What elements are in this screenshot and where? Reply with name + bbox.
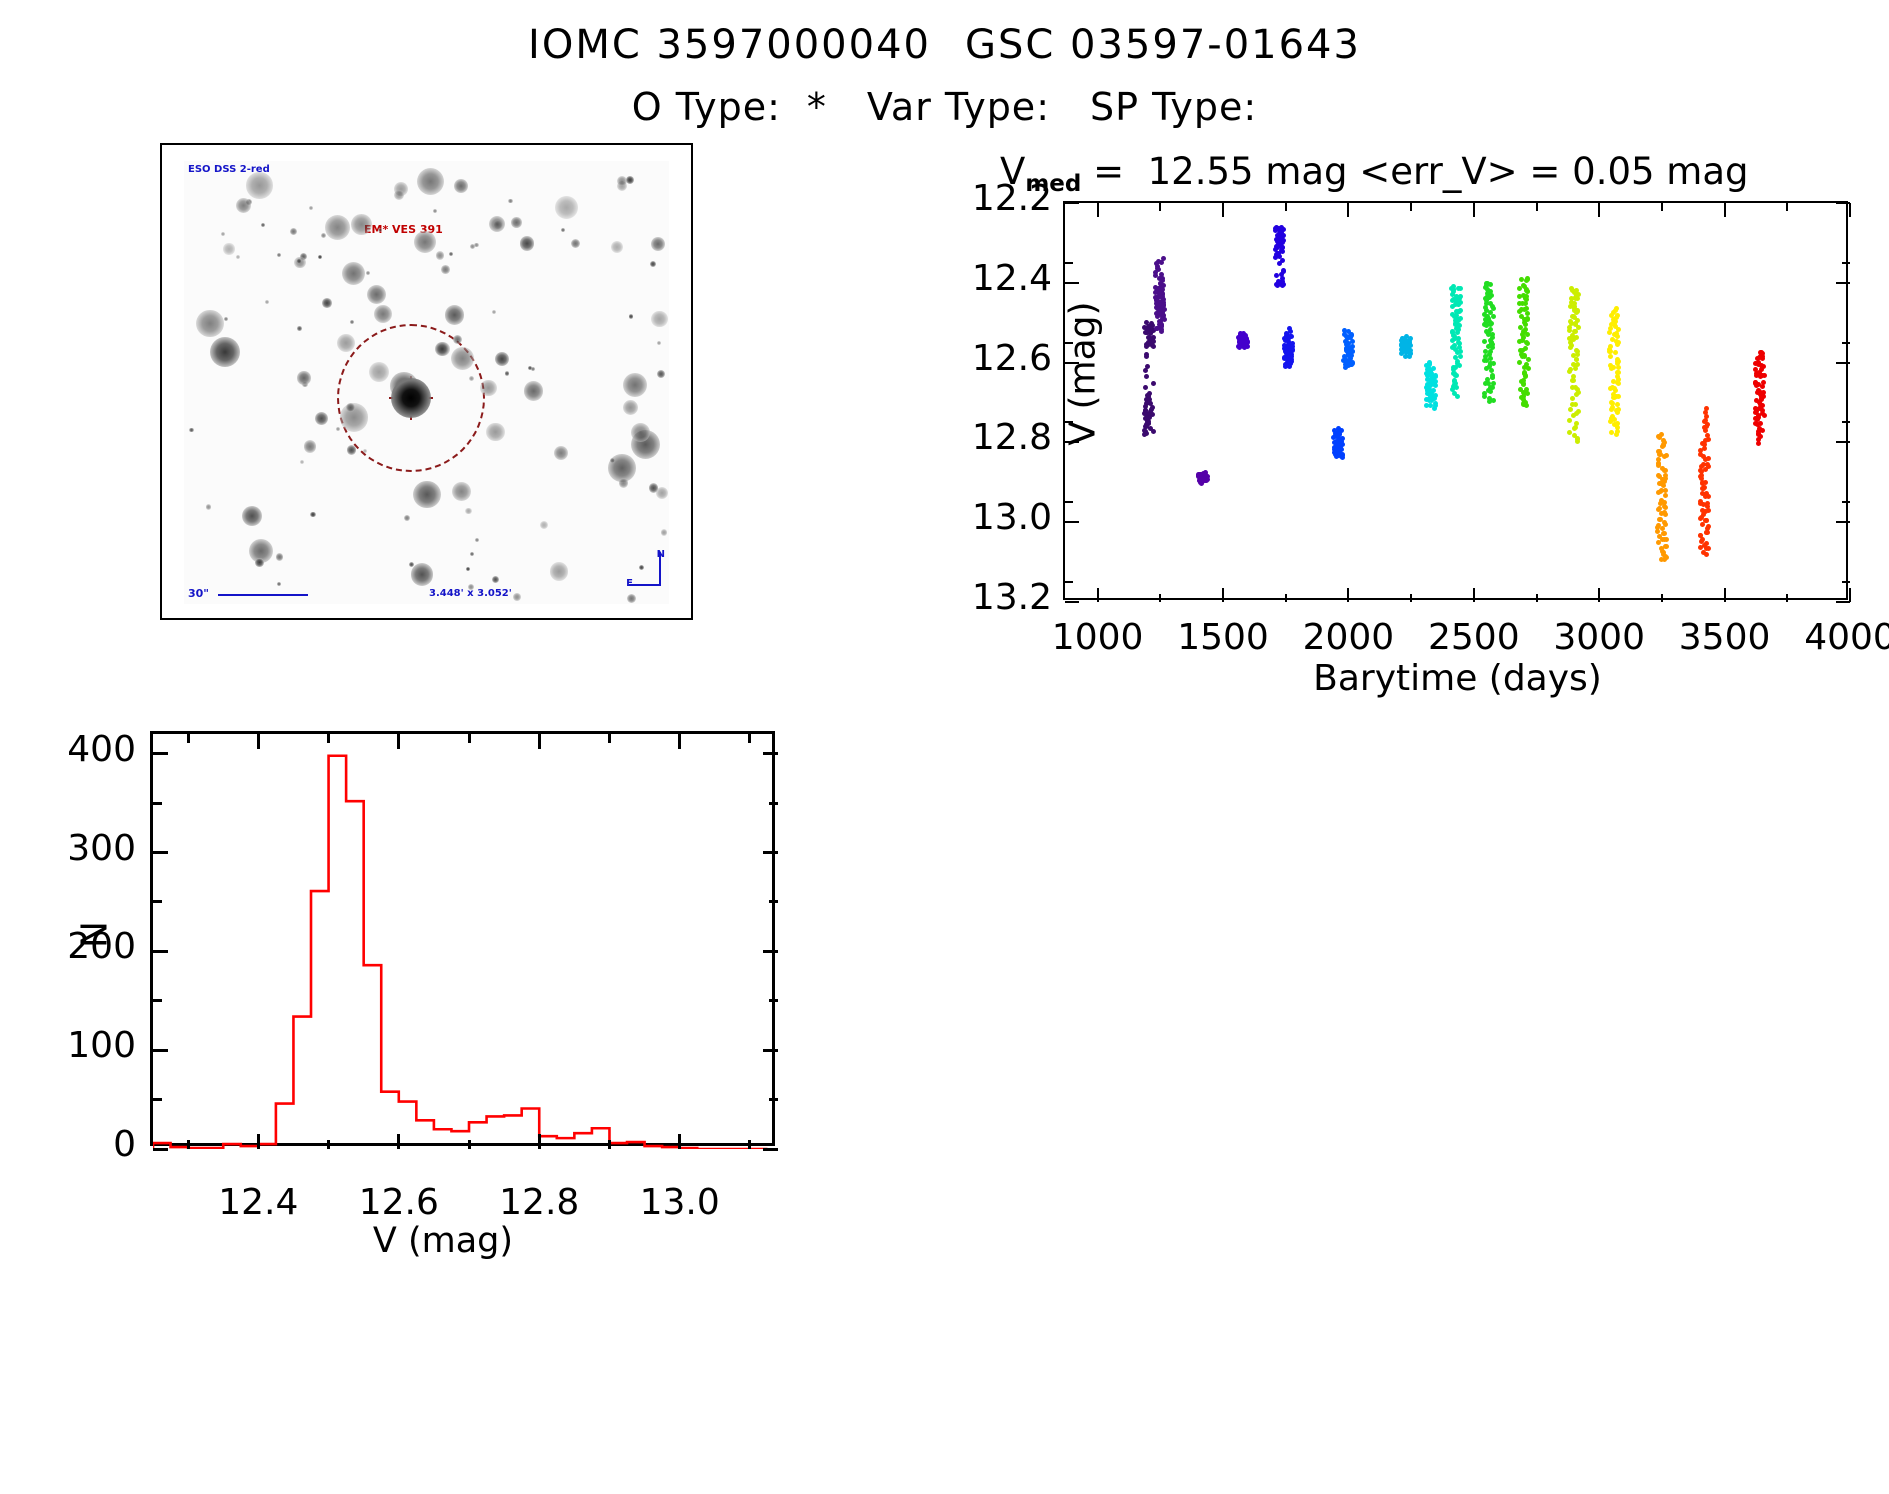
- background-star: [300, 460, 304, 464]
- background-star: [367, 285, 387, 305]
- background-star: [350, 320, 354, 324]
- lightcurve-data-point: [1663, 493, 1668, 498]
- lightcurve-x-tick: [1222, 588, 1224, 602]
- background-star: [417, 168, 445, 196]
- lightcurve-data-point: [1483, 381, 1488, 386]
- background-star: [433, 209, 437, 213]
- background-star: [524, 381, 544, 401]
- lightcurve-x-tick: [1724, 588, 1726, 602]
- background-star: [265, 300, 269, 304]
- background-star: [639, 565, 644, 570]
- lightcurve-data-point: [1576, 409, 1581, 414]
- background-star: [505, 371, 509, 375]
- background-star: [629, 314, 633, 318]
- histogram-outline: [153, 756, 767, 1149]
- lightcurve-data-point: [1517, 360, 1522, 365]
- background-star: [475, 538, 479, 542]
- lightcurve-data-point: [1451, 289, 1456, 294]
- background-star: [414, 231, 436, 253]
- lightcurve-data-point: [1144, 431, 1149, 436]
- histogram-y-minor-tick: [769, 1098, 778, 1101]
- background-star: [469, 376, 474, 381]
- lightcurve-y-minor-tick: [1842, 421, 1850, 423]
- background-star: [470, 244, 475, 249]
- lightcurve-data-point: [1143, 368, 1148, 373]
- background-star: [466, 567, 470, 571]
- gsc-id: GSC 03597-01643: [965, 22, 1361, 68]
- background-star: [651, 311, 667, 327]
- lightcurve-y-tick: [1065, 282, 1079, 284]
- background-star: [623, 373, 647, 397]
- histogram-x-minor-tick: [187, 734, 190, 743]
- background-star: [374, 305, 392, 323]
- lightcurve-x-minor-tick: [1786, 203, 1788, 211]
- background-star: [346, 403, 355, 412]
- histogram-plot: N V (mag) 010020030040012.412.612.813.0: [150, 731, 775, 1146]
- lightcurve-data-point: [1454, 373, 1459, 378]
- lightcurve-data-point: [1450, 304, 1455, 309]
- background-star: [189, 428, 193, 432]
- lightcurve-x-tick: [1347, 203, 1349, 217]
- lightcurve-x-minor-tick: [1661, 594, 1663, 602]
- histogram-x-tick: [538, 734, 541, 749]
- lightcurve-data-point: [1482, 339, 1487, 344]
- background-star: [554, 446, 569, 461]
- histogram-y-minor-tick: [153, 802, 162, 805]
- background-star: [540, 521, 548, 529]
- background-star: [236, 198, 251, 213]
- lightcurve-plot: V (mag) Barytime (days) 12.212.412.612.8…: [1063, 201, 1848, 600]
- lightcurve-y-tick-label: 12.2: [902, 178, 1052, 219]
- lightcurve-x-axis-label: Barytime (days): [1065, 658, 1850, 699]
- lightcurve-data-point: [1403, 354, 1408, 359]
- lightcurve-data-point: [1656, 490, 1661, 495]
- background-star: [486, 423, 505, 442]
- background-star: [321, 233, 327, 239]
- background-star: [511, 217, 522, 228]
- lightcurve-data-point: [1608, 354, 1613, 359]
- histogram-x-minor-tick: [468, 734, 471, 743]
- lightcurve-x-minor-tick: [1410, 594, 1412, 602]
- background-star: [322, 298, 332, 308]
- page-title: IOMC 3597000040GSC 03597-01643: [0, 22, 1889, 68]
- histogram-y-minor-tick: [153, 1098, 162, 1101]
- background-star: [351, 214, 372, 235]
- target-star: [391, 378, 431, 418]
- background-star: [236, 255, 240, 259]
- background-star: [661, 529, 668, 536]
- background-star: [242, 506, 262, 526]
- lightcurve-data-point: [1517, 339, 1522, 344]
- lightcurve-x-tick: [1473, 588, 1475, 602]
- histogram-y-minor-tick: [153, 999, 162, 1002]
- background-star: [325, 215, 350, 240]
- histogram-y-tick-label: 0: [0, 1124, 136, 1165]
- lightcurve-y-tick: [1836, 362, 1850, 364]
- background-star: [561, 228, 565, 232]
- lightcurve-y-tick: [1836, 441, 1850, 443]
- lightcurve-data-point: [1613, 324, 1618, 329]
- background-star: [656, 487, 669, 500]
- lightcurve-data-point: [1489, 368, 1494, 373]
- background-star: [297, 326, 302, 331]
- histogram-y-tick: [763, 950, 778, 953]
- lightcurve-data-point: [1664, 453, 1669, 458]
- histogram-x-tick-label: 12.4: [178, 1182, 338, 1223]
- background-star: [489, 216, 505, 232]
- background-star: [261, 223, 265, 227]
- lightcurve-y-tick-label: 13.0: [902, 497, 1052, 538]
- background-star: [651, 237, 665, 251]
- lightcurve-data-point: [1273, 255, 1278, 260]
- histogram-x-tick-label: 13.0: [600, 1182, 760, 1223]
- histogram-x-tick-label: 12.6: [319, 1182, 479, 1223]
- background-star: [223, 243, 234, 254]
- background-star: [246, 172, 273, 199]
- lightcurve-data-point: [1517, 286, 1522, 291]
- lightcurve-y-tick: [1065, 601, 1079, 603]
- lightcurve-data-point: [1571, 378, 1576, 383]
- histogram-x-minor-tick: [187, 1140, 190, 1149]
- background-star: [452, 482, 471, 501]
- lightcurve-data-point: [1609, 407, 1614, 412]
- o-type-label: O Type:: [632, 85, 781, 129]
- lightcurve-data-point: [1522, 402, 1527, 407]
- histogram-y-tick-label: 200: [0, 926, 136, 967]
- compass-icon: N E: [627, 552, 667, 600]
- lightcurve-data-point: [1616, 381, 1621, 386]
- lightcurve-data-point: [1567, 369, 1572, 374]
- background-star: [294, 257, 306, 269]
- lightcurve-data-point: [1615, 410, 1620, 415]
- lightcurve-y-tick: [1065, 441, 1079, 443]
- finder-chart-panel: ESO DSS 2-red EM* VES 391 30" 3.448' x 3…: [160, 143, 693, 620]
- lightcurve-data-point: [1616, 394, 1621, 399]
- background-star: [508, 199, 512, 203]
- background-star: [657, 370, 665, 378]
- histogram-y-minor-tick: [769, 802, 778, 805]
- lightcurve-data-point: [1568, 407, 1573, 412]
- background-star: [318, 255, 322, 259]
- background-star: [224, 317, 228, 321]
- lightcurve-data-point: [1340, 455, 1345, 460]
- histogram-y-tick: [763, 1049, 778, 1052]
- background-star: [221, 232, 225, 236]
- lightcurve-data-point: [1615, 402, 1620, 407]
- background-star: [619, 478, 628, 487]
- lightcurve-data-point: [1144, 374, 1149, 379]
- lightcurve-x-minor-tick: [1285, 203, 1287, 211]
- background-star: [474, 243, 478, 247]
- lightcurve-data-point: [1762, 413, 1767, 418]
- lightcurve-x-minor-tick: [1410, 203, 1412, 211]
- background-star: [623, 400, 638, 415]
- lightcurve-data-point: [1144, 354, 1149, 359]
- background-star: [436, 251, 444, 259]
- lightcurve-x-minor-tick: [1786, 594, 1788, 602]
- lightcurve-data-point: [1491, 314, 1496, 319]
- lightcurve-data-point: [1343, 362, 1348, 367]
- lightcurve-y-tick-label: 13.2: [902, 577, 1052, 618]
- lightcurve-data-point: [1151, 381, 1156, 386]
- histogram-x-minor-tick: [468, 1140, 471, 1149]
- lightcurve-data-point: [1758, 374, 1763, 379]
- lightcurve-data-point: [1574, 357, 1579, 362]
- lightcurve-x-minor-tick: [1159, 594, 1161, 602]
- lightcurve-data-point: [1143, 385, 1148, 390]
- lightcurve-data-point: [1408, 351, 1413, 356]
- background-star: [657, 341, 661, 345]
- lightcurve-data-point: [1706, 494, 1711, 499]
- histogram-x-tick-label: 12.8: [459, 1182, 619, 1223]
- background-star: [451, 347, 474, 370]
- background-star: [290, 228, 297, 235]
- lightcurve-x-tick: [1724, 203, 1726, 217]
- background-star: [315, 412, 328, 425]
- histogram-x-minor-tick: [608, 734, 611, 743]
- background-star: [513, 593, 521, 601]
- background-star: [196, 310, 224, 338]
- background-star: [445, 305, 465, 325]
- lightcurve-data-point: [1573, 366, 1578, 371]
- histogram-y-tick: [153, 950, 168, 953]
- histogram-svg: [153, 734, 778, 1149]
- histogram-x-axis-label: V (mag): [233, 1221, 653, 1261]
- background-star: [468, 584, 474, 590]
- lightcurve-data-point: [1567, 430, 1572, 435]
- lightcurve-stats: Vmed = 12.55 mag <err_V> = 0.05 mag: [1000, 150, 1749, 193]
- lightcurve-data-point: [1614, 432, 1619, 437]
- lightcurve-data-point: [1491, 398, 1496, 403]
- lightcurve-y-minor-tick: [1842, 581, 1850, 583]
- lightcurve-data-point: [1490, 375, 1495, 380]
- histogram-y-tick-label: 100: [0, 1025, 136, 1066]
- lightcurve-data-point: [1201, 478, 1206, 483]
- lightcurve-y-tick: [1065, 362, 1079, 364]
- lightcurve-data-point: [1703, 457, 1708, 462]
- lightcurve-x-minor-tick: [1536, 594, 1538, 602]
- lightcurve-data-point: [1572, 426, 1577, 431]
- lightcurve-x-minor-tick: [1536, 203, 1538, 211]
- lightcurve-y-minor-tick: [1842, 501, 1850, 503]
- histogram-x-tick: [257, 734, 260, 749]
- lightcurve-data-point: [1571, 413, 1576, 418]
- background-star: [492, 576, 499, 583]
- background-star: [454, 179, 468, 193]
- histogram-y-tick-label: 300: [0, 828, 136, 869]
- histogram-y-tick: [763, 752, 778, 755]
- background-star: [297, 371, 310, 384]
- compass-north-label: N: [657, 549, 665, 560]
- histogram-y-minor-tick: [769, 900, 778, 903]
- lightcurve-x-tick: [1598, 588, 1600, 602]
- lightcurve-y-tick: [1065, 202, 1079, 204]
- lightcurve-data-point: [1703, 428, 1708, 433]
- lightcurve-y-tick: [1836, 521, 1850, 523]
- lightcurve-data-point: [1575, 309, 1580, 314]
- lightcurve-data-point: [1609, 400, 1614, 405]
- lightcurve-data-point: [1458, 354, 1463, 359]
- lightcurve-data-point: [1525, 341, 1530, 346]
- lightcurve-data-point: [1574, 392, 1579, 397]
- histogram-x-tick: [397, 1134, 400, 1149]
- sp-type-label: SP Type:: [1090, 85, 1257, 129]
- background-star: [626, 176, 635, 185]
- lightcurve-x-tick: [1598, 203, 1600, 217]
- lightcurve-data-point: [1704, 552, 1709, 557]
- lightcurve-data-point: [1611, 379, 1616, 384]
- lightcurve-x-minor-tick: [1159, 203, 1161, 211]
- background-star: [441, 265, 450, 274]
- background-star: [404, 515, 410, 521]
- lightcurve-data-point: [1159, 260, 1164, 265]
- lightcurve-data-point: [1151, 429, 1156, 434]
- scale-label: 30": [188, 587, 209, 600]
- lightcurve-data-point: [1575, 439, 1580, 444]
- var-type-label: Var Type:: [867, 85, 1050, 129]
- background-star: [470, 552, 474, 556]
- lightcurve-x-tick: [1222, 203, 1224, 217]
- background-star: [465, 508, 472, 515]
- background-star: [555, 196, 578, 219]
- lightcurve-y-minor-tick: [1065, 262, 1073, 264]
- lightcurve-y-minor-tick: [1065, 501, 1073, 503]
- background-star: [480, 380, 497, 397]
- histogram-x-minor-tick: [327, 1140, 330, 1149]
- histogram-x-tick: [678, 734, 681, 749]
- lightcurve-data-point: [1616, 359, 1621, 364]
- lightcurve-y-minor-tick: [1065, 421, 1073, 423]
- lightcurve-x-minor-tick: [1661, 203, 1663, 211]
- background-star: [495, 352, 509, 366]
- histogram-y-tick-label: 400: [0, 729, 136, 770]
- lightcurve-data-point: [1615, 342, 1620, 347]
- lightcurve-data-point: [1162, 317, 1167, 322]
- background-star: [650, 261, 656, 267]
- lightcurve-data-point: [1284, 363, 1289, 368]
- background-star: [342, 262, 365, 285]
- background-star: [255, 558, 264, 567]
- background-star: [277, 582, 281, 586]
- histogram-y-minor-tick: [769, 999, 778, 1002]
- histogram-x-tick: [678, 1134, 681, 1149]
- histogram-y-minor-tick: [153, 900, 162, 903]
- iomc-id: IOMC 3597000040: [528, 22, 931, 68]
- histogram-x-tick: [397, 734, 400, 749]
- background-star: [611, 241, 623, 253]
- histogram-y-tick: [153, 1148, 168, 1151]
- lightcurve-data-point: [1277, 261, 1282, 266]
- background-star: [520, 236, 534, 250]
- background-star: [492, 310, 497, 315]
- lightcurve-data-point: [1524, 306, 1529, 311]
- lightcurve-y-tick: [1836, 282, 1850, 284]
- lightcurve-data-point: [1274, 273, 1279, 278]
- background-star: [449, 252, 453, 256]
- lightcurve-y-tick-label: 12.8: [902, 417, 1052, 458]
- lightcurve-x-tick: [1473, 203, 1475, 217]
- background-star: [347, 445, 356, 454]
- compass-east-label: E: [626, 578, 633, 589]
- background-star: [277, 253, 281, 257]
- lightcurve-y-minor-tick: [1842, 262, 1850, 264]
- lightcurve-data-point: [1761, 364, 1766, 369]
- lightcurve-data-point: [1609, 366, 1614, 371]
- histogram-y-tick: [153, 851, 168, 854]
- lightcurve-y-tick: [1065, 521, 1079, 523]
- histogram-x-minor-tick: [327, 734, 330, 743]
- background-star: [631, 423, 650, 442]
- background-star: [210, 337, 240, 367]
- lightcurve-x-tick: [1097, 203, 1099, 217]
- background-star: [571, 239, 580, 248]
- lightcurve-data-point: [1661, 443, 1666, 448]
- background-star: [206, 504, 212, 510]
- background-star: [394, 190, 404, 200]
- lightcurve-y-tick: [1836, 601, 1850, 603]
- background-star: [304, 440, 316, 452]
- background-star: [453, 335, 462, 344]
- lightcurve-x-tick-label: 4000: [1770, 617, 1889, 658]
- histogram-x-tick: [538, 1134, 541, 1149]
- lightcurve-data-point: [1275, 283, 1280, 288]
- background-star: [336, 427, 340, 431]
- lightcurve-data-point: [1146, 342, 1151, 347]
- lightcurve-data-point: [1155, 314, 1160, 319]
- lightcurve-x-tick: [1849, 203, 1851, 217]
- lightcurve-data-point: [1656, 540, 1661, 545]
- field-size-label: 3.448' x 3.052': [429, 588, 512, 599]
- histogram-y-tick: [153, 1049, 168, 1052]
- lightcurve-y-minor-tick: [1842, 342, 1850, 344]
- lightcurve-data-point: [1658, 452, 1663, 457]
- lightcurve-data-point: [1662, 557, 1667, 562]
- lightcurve-data-point: [1567, 418, 1572, 423]
- lightcurve-x-tick: [1849, 588, 1851, 602]
- lightcurve-y-axis-label: V (mag): [1063, 224, 1104, 524]
- background-star: [337, 334, 355, 352]
- lightcurve-data-point: [1664, 537, 1669, 542]
- lightcurve-data-point: [1655, 529, 1660, 534]
- background-star: [411, 563, 434, 586]
- histogram-y-tick: [153, 752, 168, 755]
- lightcurve-data-point: [1663, 512, 1668, 517]
- lightcurve-data-point: [1488, 322, 1493, 327]
- dss-image: ESO DSS 2-red EM* VES 391 30" 3.448' x 3…: [184, 161, 669, 604]
- lightcurve-data-point: [1569, 343, 1574, 348]
- lightcurve-y-tick-label: 12.4: [902, 258, 1052, 299]
- background-star: [366, 271, 370, 275]
- lightcurve-y-minor-tick: [1065, 342, 1073, 344]
- background-star: [310, 512, 315, 517]
- background-star: [627, 594, 636, 603]
- background-star: [309, 206, 313, 210]
- o-type-value: *: [807, 85, 827, 129]
- lightcurve-data-point: [1432, 406, 1437, 411]
- histogram-x-tick: [257, 1134, 260, 1149]
- lightcurve-data-point: [1144, 330, 1149, 335]
- lightcurve-data-point: [1663, 468, 1668, 473]
- lightcurve-data-point: [1570, 396, 1575, 401]
- lightcurve-x-tick: [1347, 588, 1349, 602]
- histogram-x-minor-tick: [748, 734, 751, 743]
- lightcurve-data-point: [1458, 286, 1463, 291]
- vmed-stats-text: = 12.55 mag <err_V> = 0.05 mag: [1081, 150, 1748, 193]
- lightcurve-data-point: [1613, 350, 1618, 355]
- lightcurve-y-minor-tick: [1065, 581, 1073, 583]
- lightcurve-data-point: [1525, 289, 1530, 294]
- background-star: [413, 481, 441, 509]
